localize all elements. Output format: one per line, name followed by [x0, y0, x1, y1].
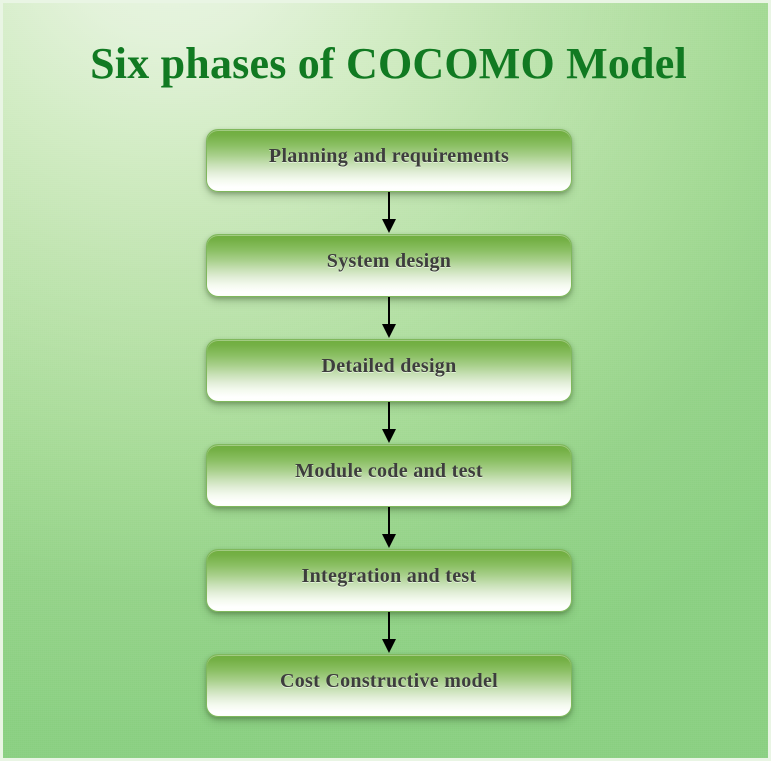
- flow-step-label: Cost Constructive model: [280, 670, 498, 693]
- down-arrow-icon: [206, 507, 572, 549]
- flow-step-integration-and-test[interactable]: Integration and test: [206, 549, 572, 612]
- flow-step-detailed-design[interactable]: Detailed design: [206, 339, 572, 402]
- down-arrow-icon: [206, 192, 572, 234]
- diagram-canvas: Six phases of COCOMO Model Planning and …: [0, 0, 771, 761]
- flow-step-label: System design: [327, 250, 451, 273]
- flow-step-label: Planning and requirements: [269, 145, 509, 168]
- flow-connector-2: [206, 297, 572, 339]
- flow-connector-3: [206, 402, 572, 444]
- flow-step-cost-constructive-model[interactable]: Cost Constructive model: [206, 654, 572, 717]
- flow-connector-5: [206, 612, 572, 654]
- flow-connector-4: [206, 507, 572, 549]
- flow-connector-1: [206, 192, 572, 234]
- down-arrow-icon: [206, 612, 572, 654]
- down-arrow-icon: [206, 402, 572, 444]
- down-arrow-icon: [206, 297, 572, 339]
- flow-step-label: Detailed design: [321, 355, 456, 378]
- flow-step-label: Module code and test: [295, 460, 483, 483]
- flowchart: Planning and requirements System design …: [206, 129, 572, 717]
- flow-step-label: Integration and test: [302, 565, 477, 588]
- flow-step-module-code-and-test[interactable]: Module code and test: [206, 444, 572, 507]
- flow-step-planning-and-requirements[interactable]: Planning and requirements: [206, 129, 572, 192]
- page-title: Six phases of COCOMO Model: [3, 41, 771, 87]
- flow-step-system-design[interactable]: System design: [206, 234, 572, 297]
